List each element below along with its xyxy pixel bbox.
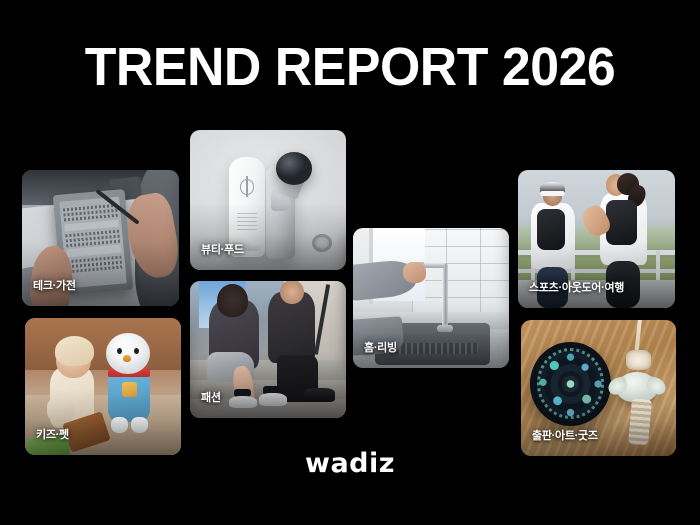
card-label-kids: 키즈·펫	[36, 426, 69, 442]
card-label-beauty: 뷰티·푸드	[201, 241, 244, 257]
category-card-tech[interactable]: 테크·가전	[22, 170, 179, 306]
category-card-kids[interactable]: 키즈·펫	[25, 318, 181, 455]
category-card-beauty[interactable]: 뷰티·푸드	[190, 130, 346, 270]
card-label-home: 홈·리빙	[364, 339, 397, 355]
card-label-sports: 스포츠·아웃도어·여행	[529, 279, 624, 295]
card-label-publishing: 출판·아트·굿즈	[532, 427, 598, 443]
category-card-publishing[interactable]: 출판·아트·굿즈	[521, 320, 676, 456]
category-card-home[interactable]: 홈·리빙	[353, 228, 509, 368]
card-label-fashion: 패션	[201, 389, 221, 405]
poster-canvas: TREND REPORT 2026 테크·가전	[0, 0, 700, 525]
page-title: TREND REPORT 2026	[14, 40, 686, 94]
wadiz-logo: wadiz	[0, 448, 700, 479]
category-card-sports[interactable]: 스포츠·아웃도어·여행	[518, 170, 675, 308]
category-card-fashion[interactable]: 패션	[190, 281, 346, 418]
card-label-tech: 테크·가전	[33, 277, 76, 293]
